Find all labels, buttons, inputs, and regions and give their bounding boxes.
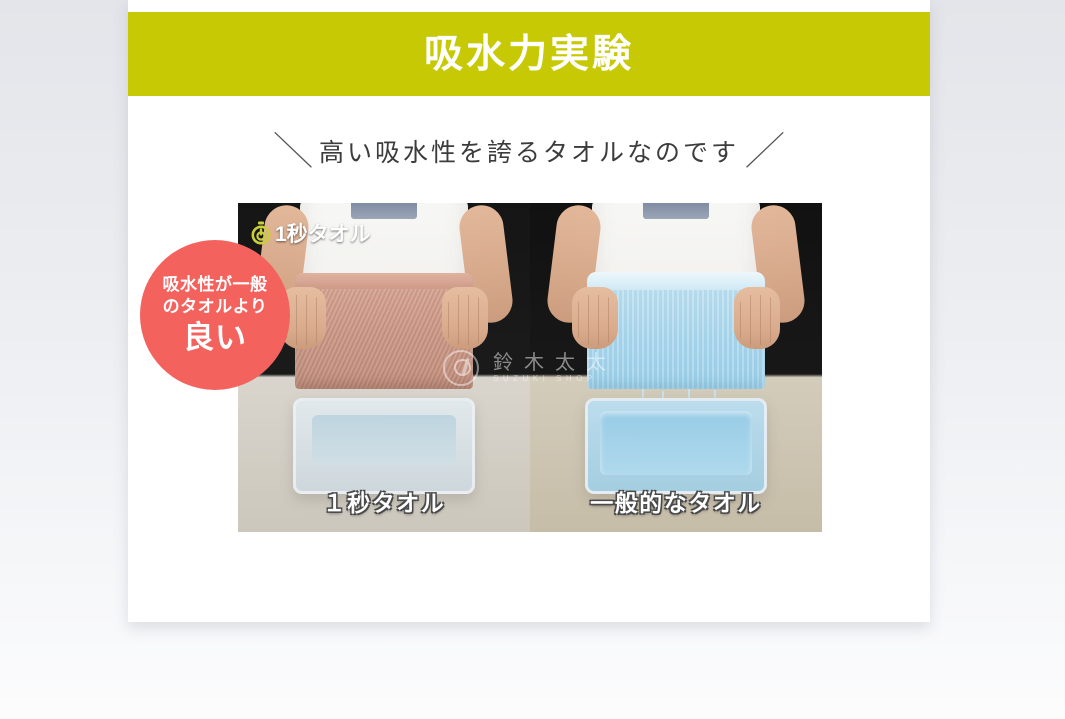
highlight-bubble: 吸水性が一般 のタオルより 良い [140,240,292,400]
tray-empty [293,398,475,494]
bubble-body: 吸水性が一般 のタオルより 良い [140,240,290,390]
slash-right-decoration: ／ [744,132,785,171]
photo-caption-left: １秒タオル [238,484,530,518]
hand-right [734,287,780,349]
experiment-photo[interactable]: 1秒タオル 鈴木太太 SUZUKI SHOP １秒タオル 一般的なタオル [238,203,822,532]
hand-right [442,287,488,349]
photo-caption-right: 一般的なタオル [530,484,822,518]
subheadline-text: 高い吸水性を誇るタオルなのです [319,133,739,169]
hand-left [572,287,618,349]
subheadline: ＼ 高い吸水性を誇るタオルなのです ／ [128,120,930,182]
section-banner: 吸水力実験 [128,12,930,96]
bubble-line-2: のタオルより [163,296,268,318]
page-title: 吸水力実験 [424,35,634,74]
photo-pane-right [530,203,822,532]
slash-left-decoration: ＼ [273,132,314,171]
bubble-line-1: 吸水性が一般 [163,274,268,296]
tray-with-water [585,398,767,494]
bubble-emphasis: 良い [183,320,247,356]
